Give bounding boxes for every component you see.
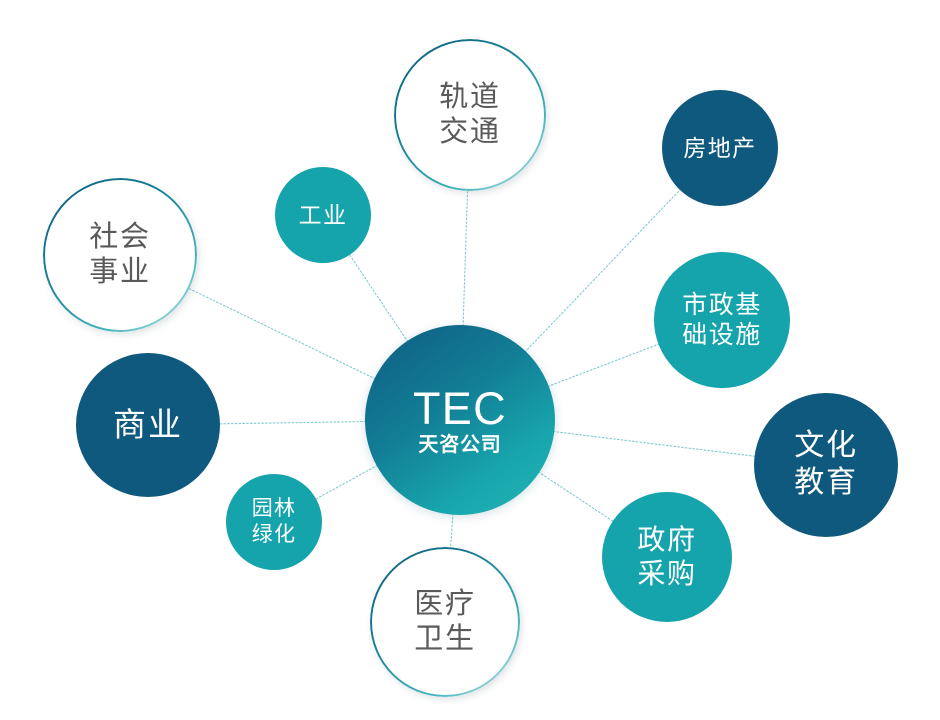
connector-line-government-procurement: [538, 472, 613, 522]
sector-label-culture-education: 文化 教育: [794, 428, 858, 501]
hub-subtitle: 天咨公司: [418, 435, 501, 455]
hub-node-tec-center[interactable]: TEC天咨公司: [365, 325, 555, 515]
sector-node-medical-health[interactable]: 医疗 卫生: [370, 547, 520, 697]
connector-line-industry: [349, 254, 408, 342]
connector-line-commerce: [219, 422, 366, 424]
connector-line-rail-transit: [463, 190, 467, 326]
sector-label-medical-health: 医疗 卫生: [414, 587, 475, 658]
sector-node-real-estate[interactable]: 房地产: [662, 90, 778, 206]
sector-node-rail-transit[interactable]: 轨道 交通: [394, 39, 546, 191]
connector-line-landscaping: [315, 465, 377, 499]
connector-line-culture-education: [553, 431, 755, 456]
sector-node-municipal-infrastructure[interactable]: 市政基 础设施: [654, 252, 790, 388]
sector-node-industry[interactable]: 工业: [275, 167, 371, 263]
sector-label-social-undertakings: 社会 事业: [89, 220, 150, 291]
hub-title: TEC: [413, 386, 507, 431]
connector-line-medical-health: [450, 514, 453, 548]
diagram-canvas: TEC天咨公司轨道 交通房地产工业社会 事业市政基 础设施商业文化 教育园林 绿…: [0, 0, 940, 720]
sector-node-commerce[interactable]: 商业: [76, 353, 220, 497]
sector-node-culture-education[interactable]: 文化 教育: [754, 393, 898, 537]
sector-node-government-procurement[interactable]: 政府 采购: [602, 492, 732, 622]
sector-label-municipal-infrastructure: 市政基 础设施: [682, 290, 762, 351]
sector-label-real-estate: 房地产: [683, 134, 756, 162]
sector-node-social-undertakings[interactable]: 社会 事业: [43, 178, 197, 332]
sector-label-landscaping: 园林 绿化: [252, 496, 297, 547]
sector-label-rail-transit: 轨道 交通: [439, 80, 500, 151]
sector-label-commerce: 商业: [113, 405, 183, 445]
connector-line-municipal-infrastructure: [548, 344, 660, 387]
sector-label-industry: 工业: [299, 201, 348, 229]
sector-label-government-procurement: 政府 采购: [637, 523, 696, 591]
connector-line-social-undertakings: [188, 288, 375, 379]
sector-node-landscaping[interactable]: 园林 绿化: [226, 474, 322, 570]
